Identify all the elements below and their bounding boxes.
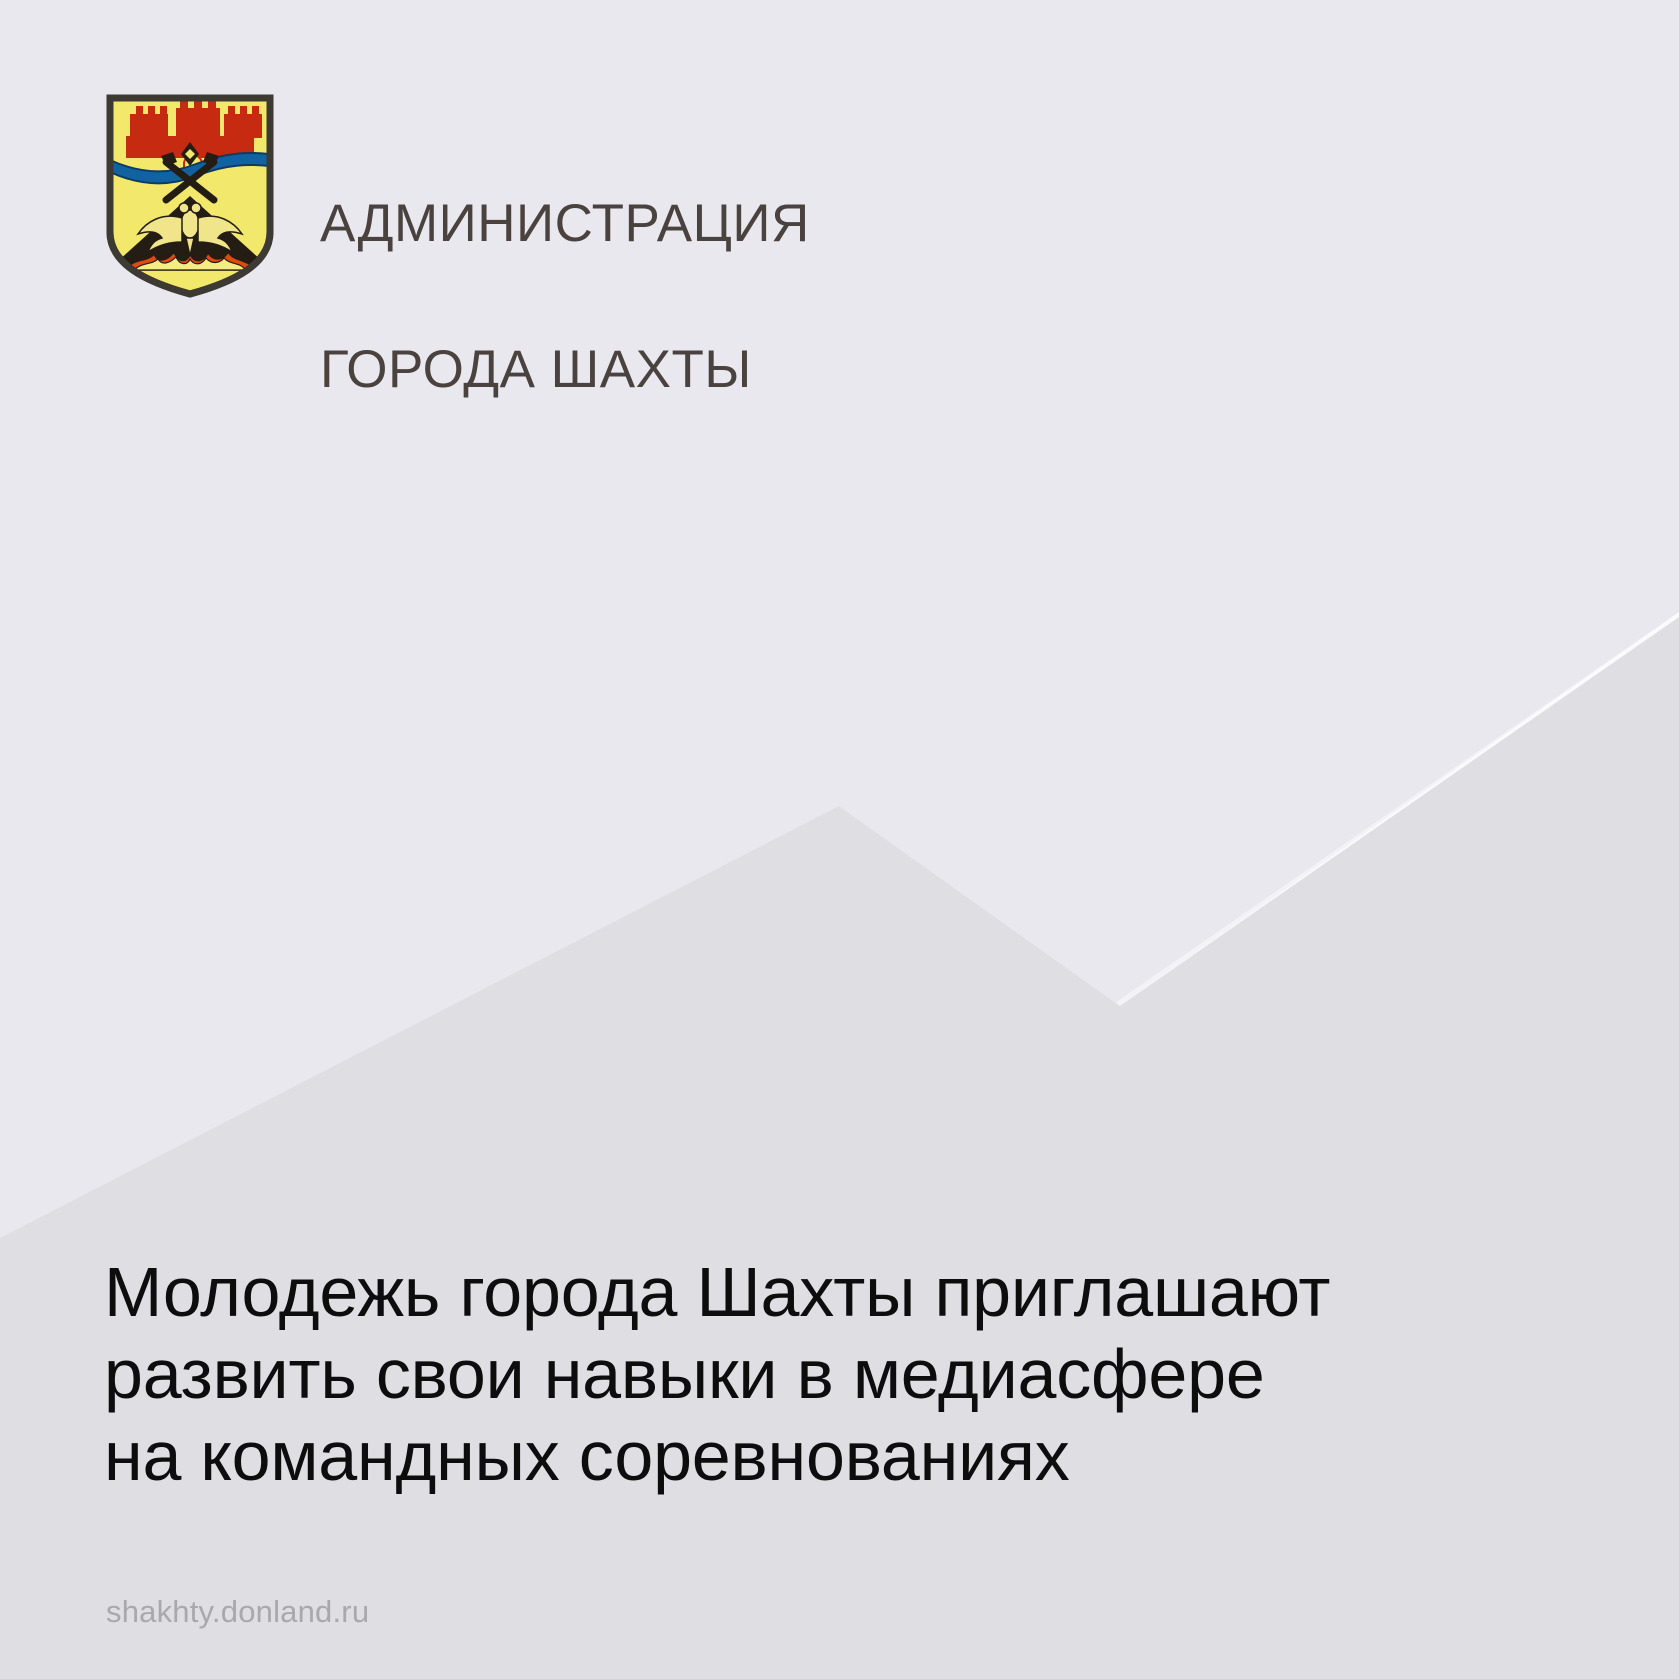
site-url[interactable]: shakhty.donland.ru <box>106 1594 369 1630</box>
shakhty-coat-of-arms-icon <box>104 92 276 300</box>
organization-name: АДМИНИСТРАЦИЯ ГОРОДА ШАХТЫ <box>320 114 810 480</box>
headline-line-2: развить свои навыки в медиасфере <box>104 1334 1504 1416</box>
organization-name-line-1: АДМИНИСТРАЦИЯ <box>320 187 810 260</box>
fortress-tower-center <box>176 108 220 140</box>
header: АДМИНИСТРАЦИЯ ГОРОДА ШАХТЫ <box>104 92 810 480</box>
announcement-card: АДМИНИСТРАЦИЯ ГОРОДА ШАХТЫ Молодежь горо… <box>0 0 1679 1679</box>
organization-name-line-2: ГОРОДА ШАХТЫ <box>320 333 810 406</box>
headline: Молодежь города Шахты приглашают развить… <box>104 1252 1504 1498</box>
fortress-tower-right <box>224 114 262 138</box>
headline-line-3: на командных соревнованиях <box>104 1416 1504 1498</box>
headline-line-1: Молодежь города Шахты приглашают <box>104 1252 1504 1334</box>
